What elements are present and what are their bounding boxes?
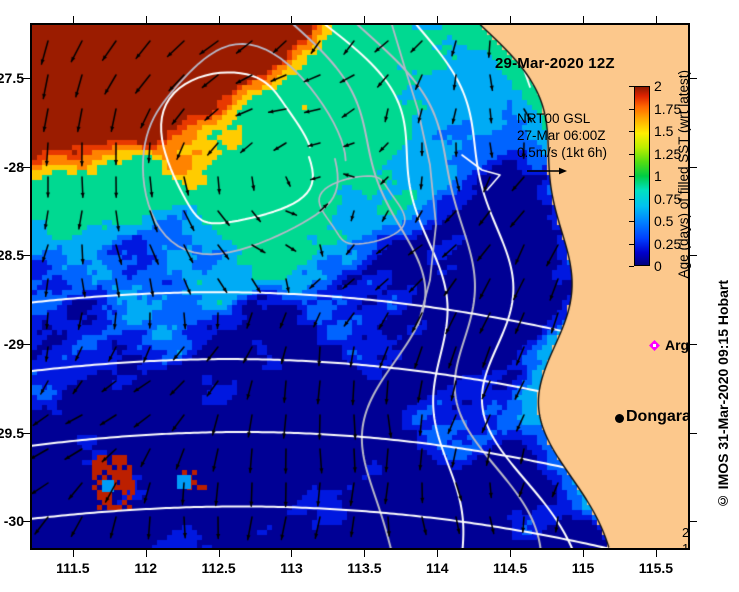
x-tick-top xyxy=(219,16,220,23)
x-tick xyxy=(583,550,584,557)
x-tick-top xyxy=(364,16,365,23)
x-tick-top xyxy=(437,16,438,23)
colorbar-tick xyxy=(629,109,634,110)
date-label: 29-Mar-2020 12Z xyxy=(495,55,615,72)
bathymetry-1000m-label: 1000m xyxy=(682,541,690,550)
x-tick xyxy=(219,550,220,557)
x-tick-label: 112 xyxy=(134,560,157,576)
colorbar-tick-label: 1.5 xyxy=(654,123,673,139)
colorbar-gradient xyxy=(634,86,650,266)
y-tick-label: -28.5 xyxy=(0,247,24,263)
sst-age-heatmap xyxy=(32,25,688,548)
colorbar-tick xyxy=(629,221,634,222)
y-tick-right xyxy=(690,167,697,168)
x-tick-top xyxy=(73,16,74,23)
y-tick-right xyxy=(690,521,697,522)
figure-root: 29-Mar-2020 12Z NRT00 GSL 27-Mar 06:00Z … xyxy=(0,0,739,592)
dongara-city-marker-icon xyxy=(615,414,624,423)
y-tick-right xyxy=(690,255,697,256)
dongara-label: Dongara xyxy=(626,408,690,426)
colorbar-tick-label: 2 xyxy=(654,78,662,94)
x-tick xyxy=(364,550,365,557)
bathymetry-legend: 200m 1000m xyxy=(682,525,690,550)
colorbar-tick xyxy=(629,244,634,245)
y-tick-label: -27.5 xyxy=(0,70,24,86)
colorbar-tick xyxy=(629,199,634,200)
colorbar-tick xyxy=(629,176,634,177)
y-tick-right xyxy=(690,344,697,345)
y-tick xyxy=(23,344,30,345)
colorbar-tick xyxy=(629,131,634,132)
velocity-scale-arrow-icon xyxy=(527,165,567,177)
x-tick-label: 113.5 xyxy=(347,560,381,576)
x-tick xyxy=(146,550,147,557)
x-tick xyxy=(291,550,292,557)
x-tick xyxy=(437,550,438,557)
x-tick-top xyxy=(510,16,511,23)
y-tick-label: -29.5 xyxy=(0,425,24,441)
x-tick xyxy=(510,550,511,557)
nrt-line-3: 0.5m/s (1kt 6h) xyxy=(517,144,607,161)
x-tick-label: 115.5 xyxy=(639,560,673,576)
x-tick-label: 114 xyxy=(426,560,449,576)
y-tick-right xyxy=(690,78,697,79)
colorbar-tick xyxy=(629,154,634,155)
x-tick xyxy=(73,550,74,557)
x-tick-top xyxy=(146,16,147,23)
colorbar-tick-label: 0.5 xyxy=(654,213,673,229)
y-tick xyxy=(23,167,30,168)
argo-label: Argo xyxy=(665,337,690,353)
colorbar-tick-label: 1 xyxy=(654,168,662,184)
x-tick xyxy=(656,550,657,557)
colorbar-tick xyxy=(629,266,634,267)
y-tick-label: -29 xyxy=(4,336,24,352)
x-tick-label: 112.5 xyxy=(201,560,235,576)
nrt-line-2: 27-Mar 06:00Z xyxy=(517,127,607,144)
x-tick-top xyxy=(583,16,584,23)
colorbar-title: Age (days) of filled SST (wrt latest) xyxy=(676,70,691,278)
colorbar-tick-label: 0 xyxy=(654,258,662,274)
y-tick-right xyxy=(690,433,697,434)
x-tick-label: 114.5 xyxy=(493,560,527,576)
map-plot-area[interactable]: 29-Mar-2020 12Z NRT00 GSL 27-Mar 06:00Z … xyxy=(30,23,690,550)
x-tick-top xyxy=(656,16,657,23)
y-tick-label: -30 xyxy=(4,513,24,529)
colorbar-tick xyxy=(629,86,634,87)
x-tick-label: 115 xyxy=(572,560,595,576)
x-tick-top xyxy=(291,16,292,23)
x-tick-label: 113 xyxy=(280,560,303,576)
bathymetry-200m-label: 200m xyxy=(682,525,690,541)
y-tick xyxy=(23,521,30,522)
nrt-annotation: NRT00 GSL 27-Mar 06:00Z 0.5m/s (1kt 6h) xyxy=(517,110,607,161)
argo-float-marker-icon[interactable] xyxy=(649,340,660,351)
nrt-line-1: NRT00 GSL xyxy=(517,110,607,127)
credit-text: © IMOS 31-Mar-2020 09:15 Hobart xyxy=(715,280,731,509)
x-tick-label: 111.5 xyxy=(56,560,90,576)
y-tick-label: -28 xyxy=(4,159,24,175)
